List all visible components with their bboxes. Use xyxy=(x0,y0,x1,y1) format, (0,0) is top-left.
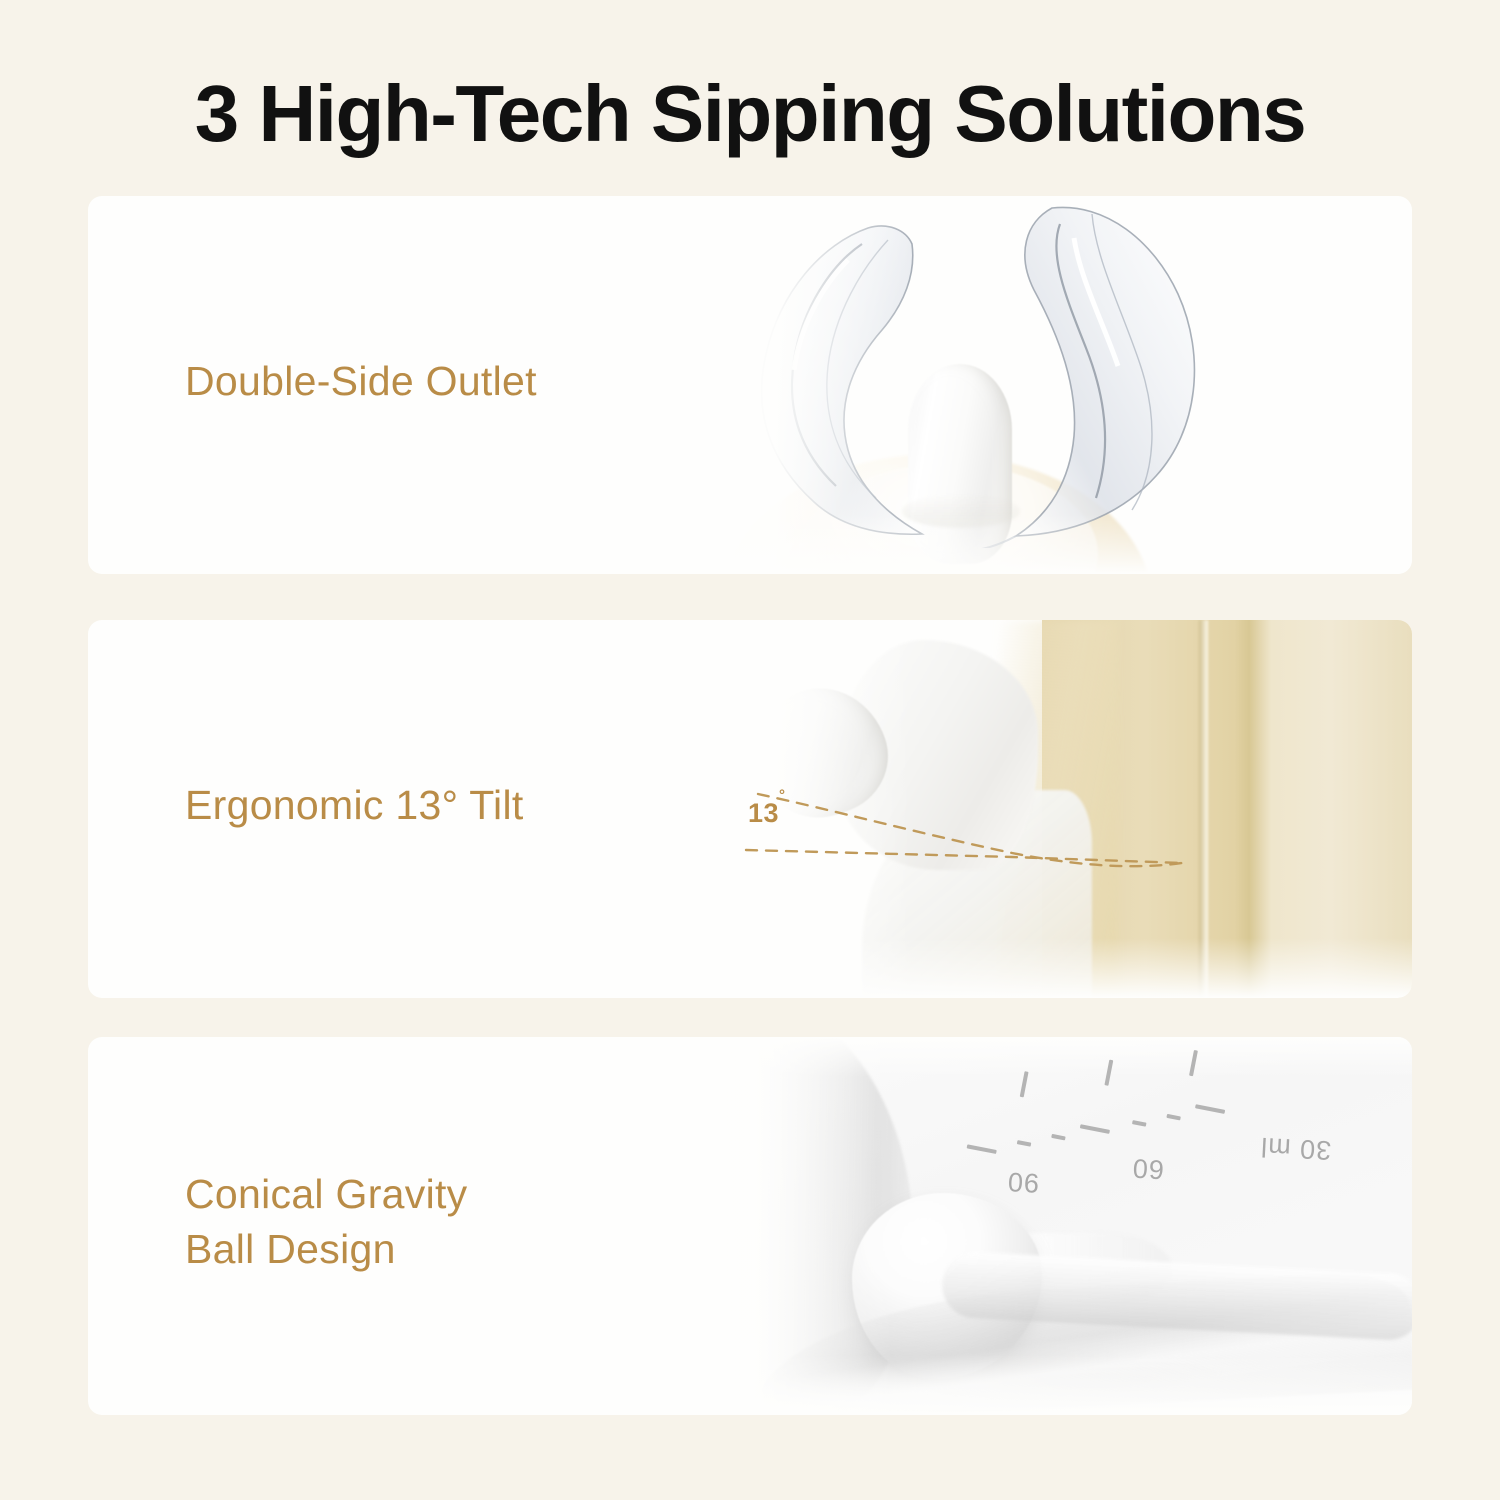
scale-tick xyxy=(1166,1114,1181,1121)
degree-symbol: ° xyxy=(779,787,786,804)
scale-label-60: 60 xyxy=(1131,1152,1165,1185)
scale-label-90: 90 xyxy=(1006,1166,1040,1199)
amber-bottle-highlight-edge xyxy=(1199,620,1208,998)
tilt-angle-label: 13° xyxy=(748,798,786,829)
feature-card-double-side-outlet: Double-Side Outlet xyxy=(88,196,1412,574)
scale-tick xyxy=(1017,1140,1032,1147)
card-label-ergonomic-tilt: Ergonomic 13° Tilt xyxy=(185,778,524,833)
card-label-gravity-ball: Conical Gravity Ball Design xyxy=(185,1167,467,1277)
feature-card-gravity-ball: 30 ml 60 90 Conical Gravity Ball Design xyxy=(88,1037,1412,1415)
double-side-outlet-photo xyxy=(712,196,1412,574)
gravity-ball-photo: 30 ml 60 90 xyxy=(692,1037,1412,1415)
liquid-splash-right-icon xyxy=(956,198,1296,548)
scale-tick xyxy=(1189,1050,1198,1076)
page-title: 3 High-Tech Sipping Solutions xyxy=(0,72,1500,156)
scale-tick xyxy=(967,1144,997,1154)
scale-tick xyxy=(1195,1104,1225,1114)
scale-tick xyxy=(1020,1071,1029,1097)
scale-tick xyxy=(1104,1060,1113,1086)
tilt-angle-value: 13 xyxy=(748,798,779,828)
scale-tick xyxy=(1051,1134,1066,1141)
card-label-double-side-outlet: Double-Side Outlet xyxy=(185,354,537,409)
scale-label-30ml: 30 ml xyxy=(1259,1131,1332,1166)
scale-tick xyxy=(1132,1120,1147,1127)
volume-scale-markings: 30 ml 60 90 xyxy=(918,1037,1346,1224)
scale-tick xyxy=(1080,1124,1110,1134)
ergonomic-tilt-photo: 13° xyxy=(712,620,1412,998)
feature-card-ergonomic-tilt: 13° Ergonomic 13° Tilt xyxy=(88,620,1412,998)
